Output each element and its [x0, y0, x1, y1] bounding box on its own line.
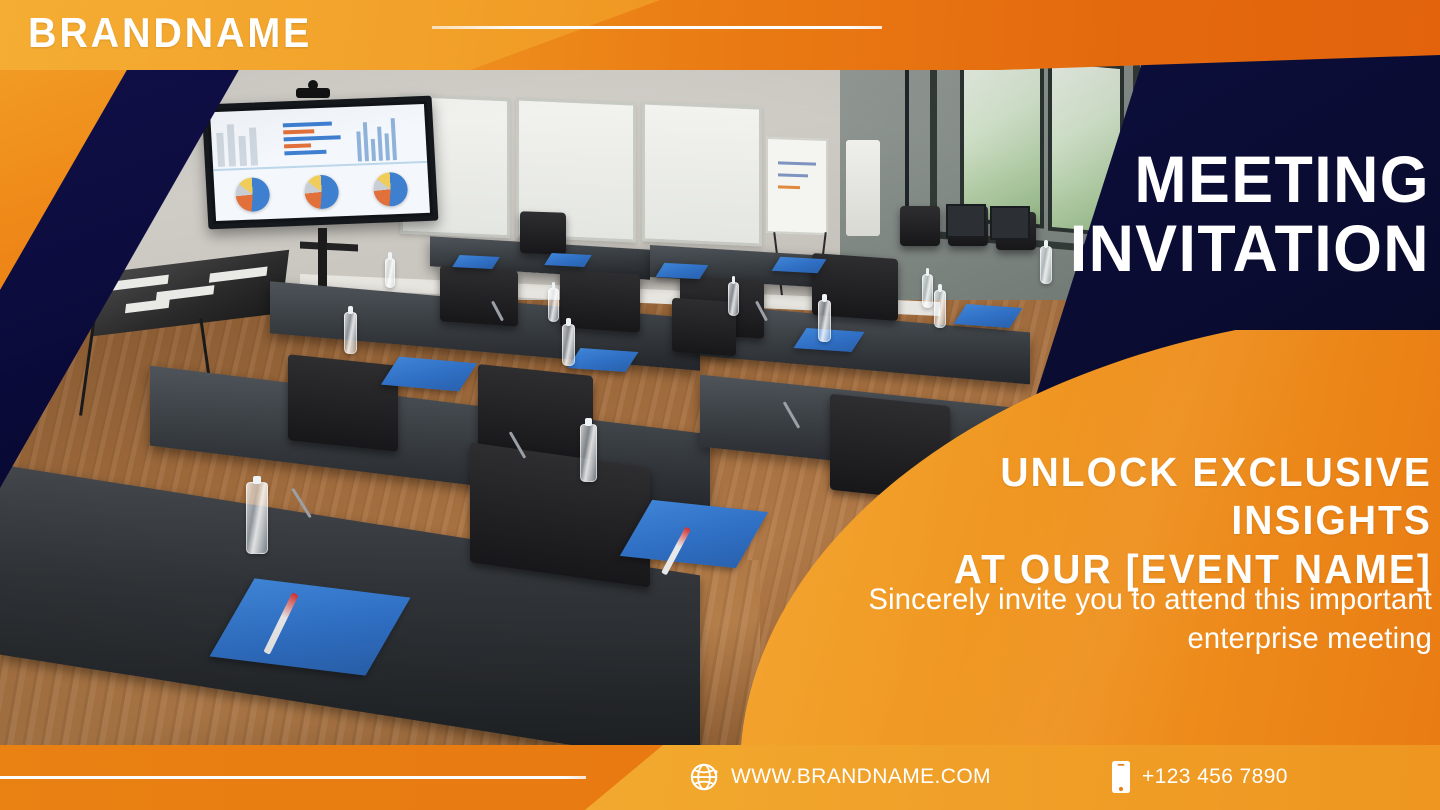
website-label: WWW.BRANDNAME.COM	[731, 765, 991, 789]
mobile-phone-icon	[1111, 760, 1131, 794]
top-divider-line	[432, 26, 882, 29]
title-line-1: MEETING	[1069, 148, 1430, 211]
footer-phone[interactable]: +123 456 7890	[1111, 760, 1288, 794]
headline-line-1: UNLOCK EXCLUSIVE INSIGHTS	[1000, 449, 1432, 543]
footer-contact-group: WWW.BRANDNAME.COM +123 456 7890	[690, 752, 1370, 802]
globe-icon	[690, 762, 720, 792]
footer-website[interactable]: WWW.BRANDNAME.COM	[690, 762, 991, 792]
subtext-line-1: Sincerely invite you to attend this impo…	[868, 583, 1432, 616]
invitation-poster: BRANDNAME MEETING INVITATION UNLOCK EXCL…	[0, 0, 1440, 810]
subtext: Sincerely invite you to attend this impo…	[809, 580, 1432, 658]
title-line-2: INVITATION	[1069, 217, 1430, 280]
footer-divider-line	[0, 776, 586, 779]
poster-title: MEETING INVITATION	[1050, 148, 1430, 281]
headline: UNLOCK EXCLUSIVE INSIGHTS AT OUR [EVENT …	[870, 448, 1432, 593]
brand-logo-text: BRANDNAME	[28, 9, 312, 57]
subtext-line-2: enterprise meeting	[809, 619, 1432, 658]
phone-label: +123 456 7890	[1142, 765, 1288, 789]
